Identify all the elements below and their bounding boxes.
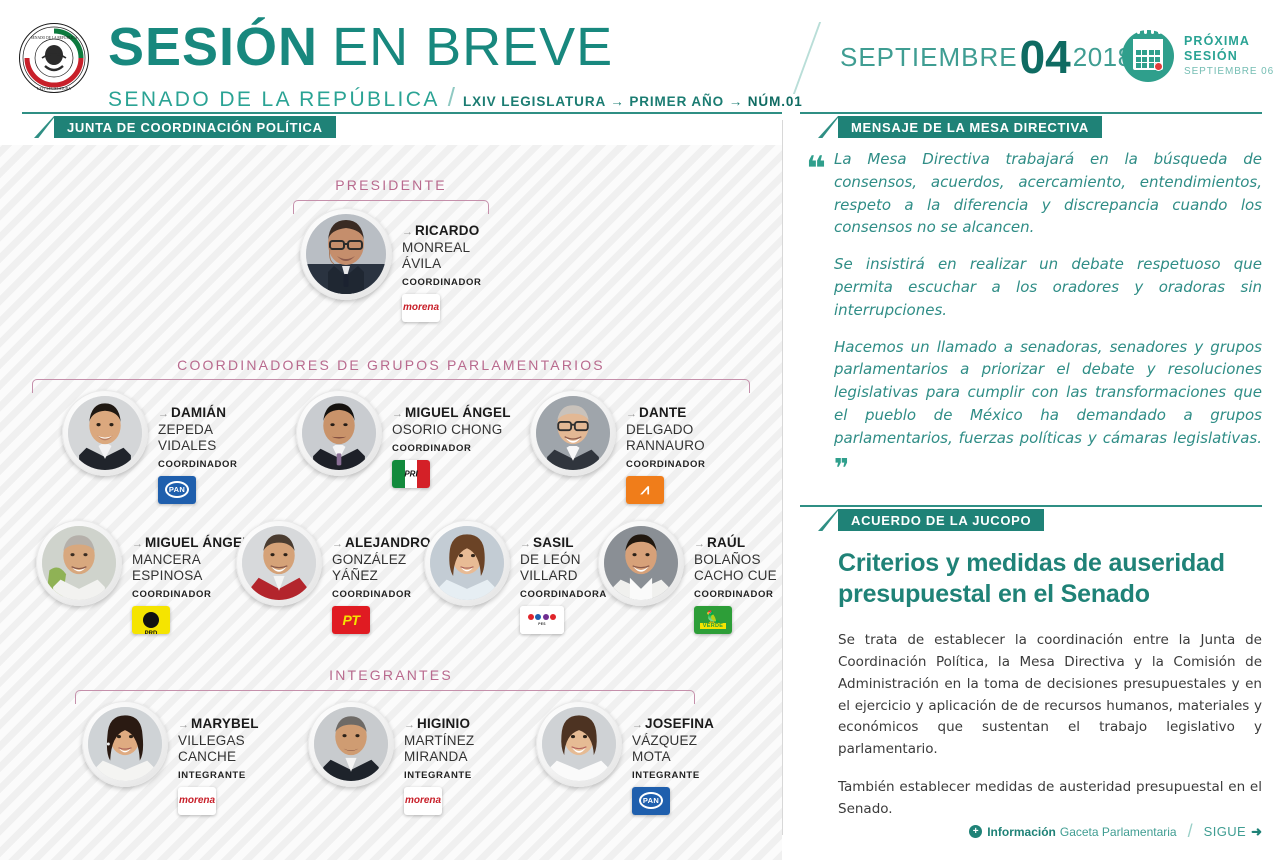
- section-header-acuerdo: ACUERDO DE LA JUCOPO: [800, 505, 1262, 531]
- member-card-president[interactable]: →RICARDO MONREAL ÁVILA COORDINADOR moren…: [300, 208, 481, 322]
- avatar: [536, 701, 622, 787]
- avatar: [62, 390, 148, 476]
- arrow-icon: →: [178, 719, 189, 731]
- right-column: ❝ La Mesa Directiva trabajará en la búsq…: [800, 148, 1262, 503]
- next-session-line2: SESIÓN: [1184, 49, 1274, 64]
- member-first-name: JOSEFINA: [645, 716, 714, 731]
- page-footer: + Información Gaceta Parlamentaria / SIG…: [969, 821, 1262, 842]
- member-role: INTEGRANTE: [632, 770, 714, 781]
- avatar: [296, 390, 382, 476]
- masthead-slash-divider: /: [448, 82, 455, 113]
- acuerdo-title: Criterios y medidas de auseridad presupu…: [838, 548, 1262, 610]
- member-card-integrante[interactable]: →MARYBEL VILLEGAS CANCHE INTEGRANTE more…: [82, 701, 259, 815]
- party-logo-pan: PAN: [158, 476, 196, 504]
- member-role: COORDINADORA: [520, 589, 607, 600]
- party-label: PES: [538, 622, 545, 626]
- arrow-icon: →: [332, 538, 343, 550]
- arrow-icon: →: [404, 719, 415, 731]
- arrow-icon: →: [694, 538, 705, 550]
- footer-source-label[interactable]: Gaceta Parlamentaria: [1060, 825, 1177, 839]
- section-header-jucopo: JUNTA DE COORDINACIÓN POLÍTICA: [0, 112, 782, 138]
- member-role: COORDINADOR: [332, 589, 431, 600]
- member-first-name: ALEJANDRO: [345, 535, 431, 550]
- member-role: COORDINADOR: [626, 459, 705, 470]
- party-label: morena: [403, 302, 439, 313]
- group-title-presidente: PRESIDENTE: [0, 177, 782, 193]
- member-first-name: DANTE: [639, 405, 687, 420]
- member-last-name-2: CANCHE: [178, 749, 259, 765]
- next-session-line1: PRÓXIMA: [1184, 34, 1274, 49]
- senate-seal-logo: SENADO DE LA REPÚBLICA LXIV LEGISLATURA: [18, 22, 90, 94]
- masthead-legislature: LXIV LEGISLATURA → PRIMER AÑO → NÚM.01: [463, 94, 803, 109]
- arrow-icon: →: [520, 538, 531, 550]
- masthead-title-light: EN BREVE: [332, 20, 613, 74]
- arrow-right-icon[interactable]: ➜: [1251, 824, 1262, 840]
- party-logo-prd: [132, 606, 170, 634]
- party-logo-verde: 🦜 VERDE: [694, 606, 732, 634]
- member-first-name: MIGUEL ÁNGEL: [145, 535, 251, 550]
- date-day: 04: [1020, 34, 1071, 80]
- quote-paragraph: Hacemos un llamado a senadoras, senadore…: [834, 336, 1262, 490]
- party-label: morena: [179, 795, 215, 806]
- svg-text:SENADO DE LA REPÚBLICA: SENADO DE LA REPÚBLICA: [31, 35, 78, 40]
- party-label: morena: [405, 795, 441, 806]
- date-month: SEPTIEMBRE: [840, 42, 1018, 73]
- quote-paragraph: La Mesa Directiva trabajará en la búsque…: [834, 148, 1262, 239]
- arrow-icon: →: [158, 408, 169, 420]
- member-last-name-2: VIDALES: [158, 438, 237, 454]
- member-last-name-2: MIRANDA: [404, 749, 474, 765]
- party-logo-pri: [392, 460, 430, 488]
- member-card-coordinator[interactable]: →DAMIÁN ZEPEDA VIDALES COORDINADOR PAN: [62, 390, 237, 504]
- party-logo-pes: PES: [520, 606, 564, 634]
- member-last-name-2: MOTA: [632, 749, 714, 765]
- member-last-name-1: VÁZQUEZ: [632, 733, 714, 749]
- arrow-icon: →: [632, 719, 643, 731]
- member-last-name-1: MARTÍNEZ: [404, 733, 474, 749]
- next-session-block: PRÓXIMA SESIÓN SEPTIEMBRE 06: [1122, 30, 1274, 82]
- member-last-name-2: ESPINOSA: [132, 568, 251, 584]
- toucan-icon: 🦜: [706, 611, 721, 623]
- avatar: [300, 208, 392, 300]
- avatar: [308, 701, 394, 787]
- footer-next-label[interactable]: SIGUE: [1204, 824, 1246, 839]
- quote-paragraph-text: Hacemos un llamado a senadoras, senadore…: [834, 338, 1262, 447]
- member-first-name: RAÚL: [707, 535, 745, 550]
- member-card-coordinator[interactable]: →MIGUEL ÁNGEL OSORIO CHONG COORDINADOR: [296, 390, 511, 488]
- calendar-icon: [1122, 30, 1174, 82]
- acuerdo-block: Criterios y medidas de auseridad presupu…: [838, 548, 1262, 837]
- section-label-acuerdo: ACUERDO DE LA JUCOPO: [838, 509, 1044, 531]
- arrow-icon: →: [402, 226, 413, 238]
- quote-paragraph: Se insistirá en realizar un debate respe…: [834, 253, 1262, 321]
- avatar: [530, 390, 616, 476]
- member-card-coordinator[interactable]: →ALEJANDRO GONZÁLEZ YÁÑEZ COORDINADOR PT: [236, 520, 431, 634]
- member-last-name-1: MONREAL: [402, 240, 481, 256]
- member-role: COORDINADOR: [392, 443, 511, 454]
- party-logo-pan: PAN: [632, 787, 670, 815]
- member-last-name-2: CACHO CUE: [694, 568, 777, 584]
- section-label-jucopo: JUNTA DE COORDINACIÓN POLÍTICA: [54, 116, 336, 138]
- member-first-name: MIGUEL ÁNGEL: [405, 405, 511, 420]
- bird-icon: ⩘: [641, 482, 649, 497]
- avatar: [598, 520, 684, 606]
- member-card-integrante[interactable]: →HIGINIO MARTÍNEZ MIRANDA INTEGRANTE mor…: [308, 701, 474, 815]
- avatar: [424, 520, 510, 606]
- plus-icon: +: [969, 825, 982, 838]
- svg-text:LXIV LEGISLATURA: LXIV LEGISLATURA: [37, 87, 71, 91]
- member-card-coordinator[interactable]: →SASIL DE LEÓN VILLARD COORDINADORA PES: [424, 520, 607, 634]
- party-logo-morena: morena: [404, 787, 442, 815]
- column-divider: [782, 120, 783, 835]
- acuerdo-paragraph: También establecer medidas de austeridad…: [838, 777, 1262, 821]
- quote-open-icon: ❝: [806, 152, 826, 186]
- member-last-name-1: MANCERA: [132, 552, 251, 568]
- member-first-name: DAMIÁN: [171, 405, 226, 420]
- member-last-name-1: DELGADO: [626, 422, 705, 438]
- section-label-mesa: MENSAJE DE LA MESA DIRECTIVA: [838, 116, 1102, 138]
- avatar: [36, 520, 122, 606]
- party-label: PAN: [165, 481, 189, 498]
- arrow-icon: →: [132, 538, 143, 550]
- group-title-integrantes: INTEGRANTES: [0, 667, 782, 683]
- member-card-coordinator[interactable]: →DANTE DELGADO RANNAURO COORDINADOR ⩘: [530, 390, 705, 504]
- member-last-name-1: BOLAÑOS: [694, 552, 777, 568]
- party-logo-mc: ⩘: [626, 476, 664, 504]
- member-card-coordinator[interactable]: →MIGUEL ÁNGEL MANCERA ESPINOSA COORDINAD…: [36, 520, 251, 634]
- legislature-text: LXIV LEGISLATURA → PRIMER AÑO →: [463, 94, 748, 109]
- member-last-name-1: GONZÁLEZ: [332, 552, 431, 568]
- party-logo-morena: morena: [178, 787, 216, 815]
- mesa-directiva-quote: ❝ La Mesa Directiva trabajará en la búsq…: [800, 148, 1262, 489]
- issue-number: NÚM.01: [748, 94, 803, 109]
- group-title-coordinadores: COORDINADORES DE GRUPOS PARLAMENTARIOS: [0, 357, 782, 373]
- member-card-coordinator[interactable]: →RAÚL BOLAÑOS CACHO CUE COORDINADOR 🦜 VE…: [598, 520, 777, 634]
- party-logo-morena: morena: [402, 294, 440, 322]
- member-last-name-2: RANNAURO: [626, 438, 705, 454]
- party-label: VERDE: [700, 623, 726, 629]
- member-card-integrante[interactable]: →JOSEFINA VÁZQUEZ MOTA INTEGRANTE PAN: [536, 701, 714, 815]
- avatar: [236, 520, 322, 606]
- session-date: SEPTIEMBRE 04 2018: [840, 34, 1133, 80]
- member-role: INTEGRANTE: [404, 770, 474, 781]
- member-last-name-2: YÁÑEZ: [332, 568, 431, 584]
- next-session-date: SEPTIEMBRE 06: [1184, 66, 1274, 78]
- masthead-title-bold: SESIÓN: [108, 20, 318, 74]
- member-role: COORDINADOR: [402, 277, 481, 288]
- section-header-mesa: MENSAJE DE LA MESA DIRECTIVA: [800, 112, 1262, 138]
- page-header: SENADO DE LA REPÚBLICA LXIV LEGISLATURA …: [0, 0, 1280, 112]
- member-last-name-1: DE LEÓN: [520, 552, 607, 568]
- member-first-name: RICARDO: [415, 223, 479, 238]
- member-first-name: MARYBEL: [191, 716, 259, 731]
- footer-slash-divider: /: [1188, 821, 1193, 842]
- member-first-name: SASIL: [533, 535, 574, 550]
- member-role: COORDINADOR: [132, 589, 251, 600]
- party-logo-pt: PT: [332, 606, 370, 634]
- quote-close-icon: ❞: [834, 454, 849, 484]
- jucopo-org-chart: PRESIDENTE: [0, 145, 782, 860]
- member-role: COORDINADOR: [694, 589, 777, 600]
- arrow-icon: →: [392, 408, 403, 420]
- member-first-name: HIGINIO: [417, 716, 470, 731]
- member-last-name-2: ÁVILA: [402, 256, 481, 272]
- member-last-name-1: OSORIO CHONG: [392, 422, 511, 438]
- masthead-subtitle: SENADO DE LA REPÚBLICA: [108, 88, 440, 112]
- masthead: SESIÓN EN BREVE SENADO DE LA REPÚBLICA /…: [108, 20, 803, 113]
- member-role: INTEGRANTE: [178, 770, 259, 781]
- party-label: PAN: [639, 792, 663, 809]
- member-last-name-2: VILLARD: [520, 568, 607, 584]
- acuerdo-paragraph: Se trata de establecer la coordinación e…: [838, 630, 1262, 761]
- footer-info-label[interactable]: Información: [987, 825, 1056, 839]
- member-last-name-1: ZEPEDA: [158, 422, 237, 438]
- arrow-icon: →: [626, 408, 637, 420]
- avatar: [82, 701, 168, 787]
- member-role: COORDINADOR: [158, 459, 237, 470]
- infographic-page: SENADO DE LA REPÚBLICA LXIV LEGISLATURA …: [0, 0, 1280, 860]
- member-last-name-1: VILLEGAS: [178, 733, 259, 749]
